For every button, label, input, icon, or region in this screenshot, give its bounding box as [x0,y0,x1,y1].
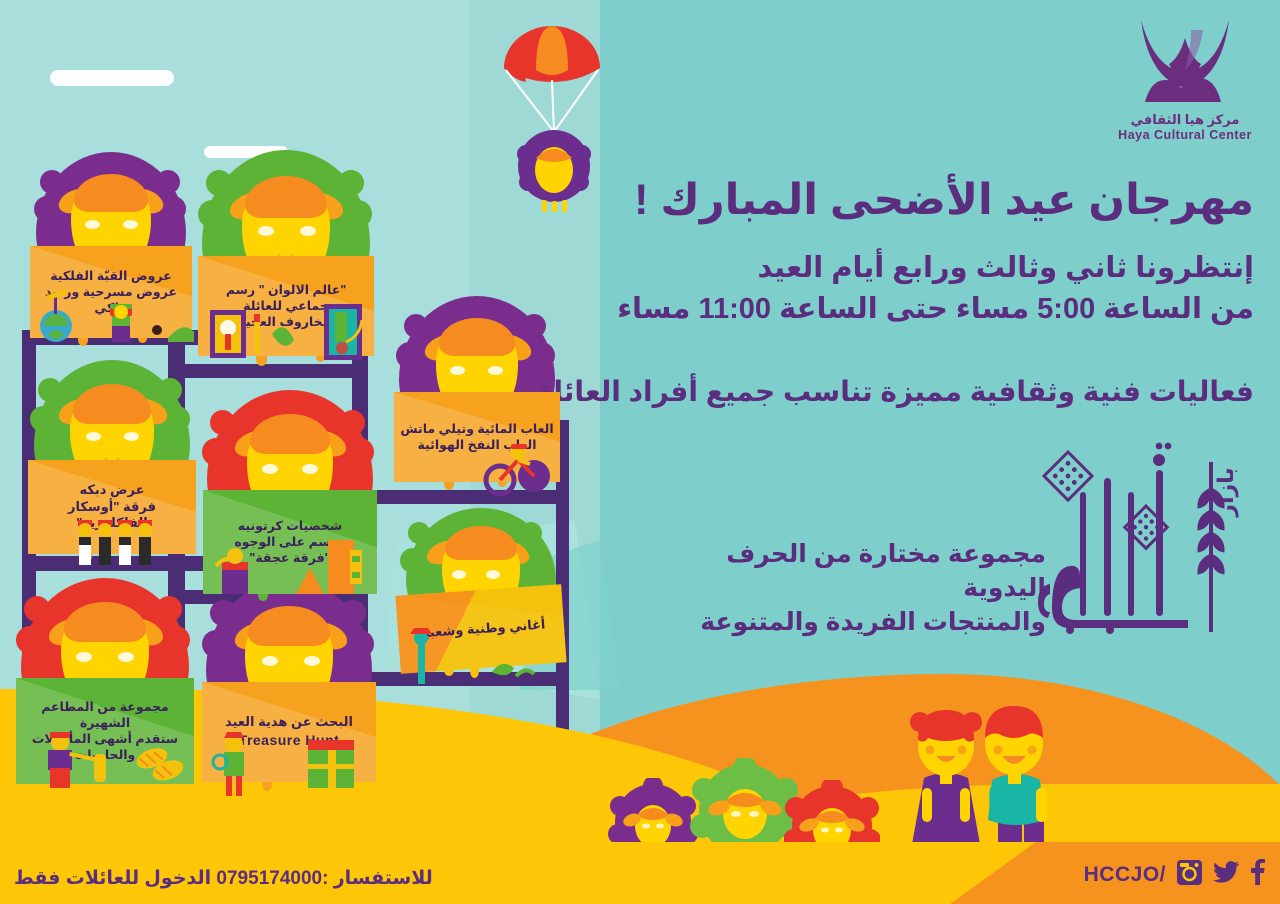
sign-treasure-hunt[interactable]: البحث عن هدية العيد Treasure Hunt [200,580,378,792]
social-handle: /HCCJO [1084,863,1166,887]
poster-root: عروض القبّة الفلكية عروض مسرحية ورصد فلك… [0,0,1280,904]
sign-illustration-restaurants [14,726,196,790]
sheep-eye-left [450,366,465,375]
page-title: مهرجان عيد الأضحى المبارك ! [634,174,1254,228]
sheep-eye-right [118,652,134,662]
social-links[interactable]: /HCCJO [1084,859,1266,890]
sign-illustration-water-games [392,436,562,498]
sheep-eye-left [452,570,466,579]
sign-line: شخصيات كرتونيه [234,518,345,534]
haya-cultural-center-logo: مركز هيا الثقافي Haya Cultural Center [1110,14,1260,142]
sign-illustration-treasure [200,726,378,798]
sheep-eye-left [86,432,101,441]
sheep-eye-right [304,656,320,666]
sign-cartoon-characters[interactable]: شخصيات كرتونيه ورسم على الوجوه "فرقة عجق… [200,390,380,595]
bazaar-desc-line2: والمنتجات الفريدة والمتنوعة [646,606,1046,640]
sign-planetarium[interactable]: عروض القبّة الفلكية عروض مسرحية ورصد فلك… [28,152,194,337]
bazaar-description: مجموعة مختارة من الحرف اليدوية والمنتجات… [646,538,1046,639]
sign-folk-songs[interactable]: أغاني وطنية وشعبية [396,508,566,683]
logo-english-text: Haya Cultural Center [1110,128,1260,142]
sheep-eye-left [258,226,274,236]
parachute-sheep [492,22,622,212]
sign-water-games[interactable]: العاب المائية وتيلي ماتش العاب النفخ اله… [392,296,562,492]
sheep-eye-left [76,652,92,662]
schedule-block: إنتظرونا ثاني وثالث ورابع أيام العيد من … [617,248,1254,330]
facebook-icon[interactable] [1250,859,1266,890]
sign-illustration-folk-songs [396,624,566,688]
bazaar-label: بازار [1213,467,1238,517]
footer-inquiry: للاستفسار :0795174000 الدخول للعائلات فق… [14,867,433,890]
sheep-eye-left [85,220,100,229]
sheep-eye-right [486,570,500,579]
schedule-hours: من الساعة 5:00 مساء حتى الساعة 11:00 مسا… [617,289,1254,330]
sheep-eye-right [123,220,138,229]
cloud-top-left [38,30,178,84]
sign-illustration-cartoon [200,536,380,598]
bazaar-desc-line1: مجموعة مختارة من الحرف اليدوية [646,538,1046,606]
sign-line: عرض دبكه [34,482,190,499]
sign-colors-world[interactable]: "عالم الالوان " رسم جماعي للعائلة والخار… [196,150,376,360]
sign-illustration-planetarium [28,282,194,342]
sign-illustration-dabke [26,510,198,570]
sheep-eye-left [262,464,278,474]
sheep-eye-right [300,226,316,236]
sign-illustration-colors [196,298,376,368]
sign-restaurants[interactable]: مجموعة من المطاعم الشهيرة ستقدم أشهى الم… [14,578,196,788]
sheep-eye-left [262,656,278,666]
sheep-eye-right [302,464,318,474]
tagline: فعاليات فنية وثقافية مميزة تناسب جميع أف… [536,372,1255,411]
sign-dabke[interactable]: عرض دبكه فرقة "أوسكار الفلكلورية" [26,360,198,560]
logo-arabic-text: مركز هيا الثقافي [1110,112,1260,128]
sheep-eye-right [124,432,139,441]
instagram-icon[interactable] [1177,860,1202,890]
haya-logo-mark [1125,14,1245,110]
sign-line: العاب المائية وتيلي ماتش [400,421,553,437]
twitter-icon[interactable] [1213,861,1239,888]
sheep-eye-right [488,366,503,375]
schedule-days: إنتظرونا ثاني وثالث ورابع أيام العيد [617,248,1254,289]
